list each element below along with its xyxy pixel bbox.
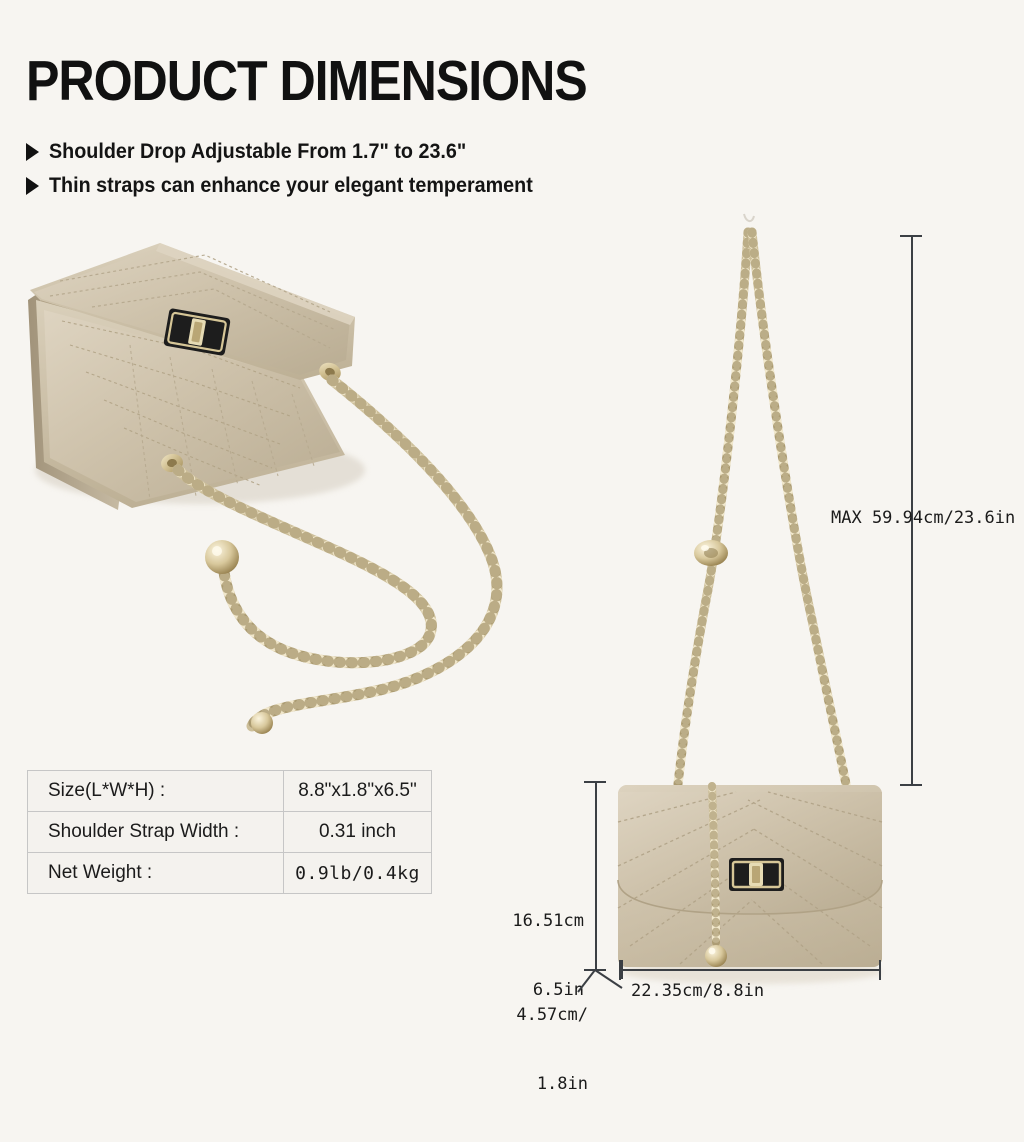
bullet-text: Shoulder Drop Adjustable From 1.7" to 23… (49, 140, 466, 164)
bag-width-cap-left (619, 960, 621, 980)
spec-value-strap-width: 0.31 inch (284, 812, 432, 853)
table-row: Shoulder Strap Width : 0.31 inch (28, 812, 432, 853)
triangle-bullet-icon (26, 143, 39, 161)
spec-label-net-weight: Net Weight : (28, 853, 284, 894)
left-bag-photo (28, 243, 497, 734)
specification-table: Size(L*W*H) : 8.8"x1.8"x6.5" Shoulder St… (27, 770, 432, 894)
bag-height-cap-top (584, 781, 606, 783)
bag-height-cm: 16.51cm (466, 910, 584, 933)
bag-width-cap-right (879, 960, 881, 980)
bag-width-dimension-line (620, 969, 881, 971)
spec-value-size: 8.8"x1.8"x6.5" (284, 771, 432, 812)
spec-value-net-weight: 0.9lb/0.4kg (284, 853, 432, 894)
bag-depth-label: 4.57cm/ 1.8in (466, 958, 588, 1142)
bag-depth-cm: 4.57cm/ (466, 1004, 588, 1027)
page-title: PRODUCT DIMENSIONS (26, 48, 587, 114)
right-bag-photo (618, 214, 882, 984)
spec-label-size: Size(L*W*H) : (28, 771, 284, 812)
strap-drop-label: MAX 59.94cm/23.6in (831, 507, 1015, 530)
triangle-bullet-icon (26, 177, 39, 195)
bullet-text: Thin straps can enhance your elegant tem… (49, 174, 533, 198)
spec-label-strap-width: Shoulder Strap Width : (28, 812, 284, 853)
left-bag-clasp (163, 308, 231, 356)
bag-depth-in: 1.8in (466, 1073, 588, 1096)
infographic-canvas: PRODUCT DIMENSIONS Shoulder Drop Adjusta… (0, 0, 1024, 1024)
table-row: Size(L*W*H) : 8.8"x1.8"x6.5" (28, 771, 432, 812)
bullet-item-thin-straps: Thin straps can enhance your elegant tem… (26, 174, 564, 198)
bullet-item-shoulder-drop: Shoulder Drop Adjustable From 1.7" to 23… (26, 140, 493, 164)
left-bag-chain-strap (178, 380, 497, 726)
table-row: Net Weight : 0.9lb/0.4kg (28, 853, 432, 894)
strap-drop-cap-top (900, 235, 922, 237)
strap-drop-cap-bottom (900, 784, 922, 786)
bag-width-label: 22.35cm/8.8in (631, 980, 764, 1003)
right-bag-clasp (729, 858, 784, 891)
